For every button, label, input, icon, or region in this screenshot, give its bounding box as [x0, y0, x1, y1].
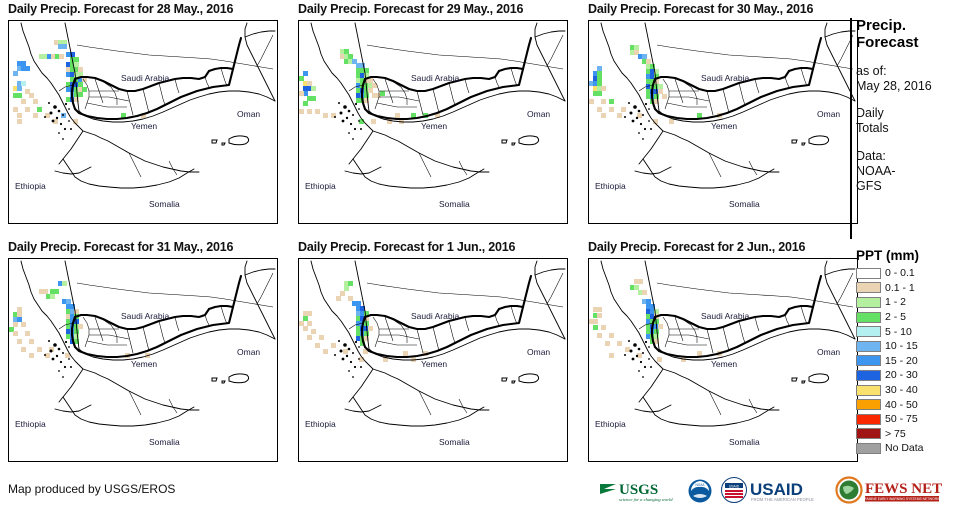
map-frame-5[interactable]: Saudi Arabia Oman Yemen Ethiopia Somalia	[298, 258, 568, 462]
country-label-somalia: Somalia	[149, 437, 180, 447]
legend-label: 1 - 2	[885, 296, 906, 308]
legend-label: 15 - 20	[885, 355, 918, 367]
country-label-yemen: Yemen	[711, 121, 737, 131]
legend-row-12: No Data	[856, 441, 967, 456]
sidebar-totals-line2: Totals	[856, 121, 967, 136]
legend-row-7: 20 - 30	[856, 368, 967, 383]
country-label-saudi-arabia: Saudi Arabia	[411, 73, 459, 83]
fews-net-logo: FEWS NET FAMINE EARLY WARNING SYSTEMS NE…	[835, 475, 945, 507]
panel-title-3: Daily Precip. Forecast for 30 May., 2016	[588, 2, 858, 19]
panel-title-6: Daily Precip. Forecast for 2 Jun., 2016	[588, 240, 858, 257]
country-label-yemen: Yemen	[131, 359, 157, 369]
country-label-ethiopia: Ethiopia	[15, 419, 46, 429]
legend-row-11: > 75	[856, 427, 967, 442]
country-label-somalia: Somalia	[439, 199, 470, 209]
country-label-saudi-arabia: Saudi Arabia	[411, 311, 459, 321]
sidebar-data-line2: GFS	[856, 179, 967, 194]
country-label-somalia: Somalia	[729, 437, 760, 447]
svg-text:USAID: USAID	[729, 485, 740, 489]
legend-label: 20 - 30	[885, 369, 918, 381]
country-label-ethiopia: Ethiopia	[305, 181, 336, 191]
legend-label: No Data	[885, 442, 924, 454]
legend-swatch	[856, 399, 881, 410]
legend-swatch	[856, 443, 881, 454]
country-label-saudi-arabia: Saudi Arabia	[121, 311, 169, 321]
legend-swatch	[856, 414, 881, 425]
country-label-ethiopia: Ethiopia	[305, 419, 336, 429]
legend-row-10: 50 - 75	[856, 412, 967, 427]
forecast-panel-2: Daily Precip. Forecast for 29 May., 2016	[298, 2, 568, 224]
noaa-logo: NOAA	[687, 475, 713, 507]
ppt-legend: PPT (mm) 0 - 0.1 0.1 - 1 1 - 2 2 - 5 5 -…	[856, 248, 967, 456]
legend-swatch	[856, 341, 881, 352]
legend-label: 0.1 - 1	[885, 282, 915, 294]
legend-label: 10 - 15	[885, 340, 918, 352]
sidebar-data-source: Data: NOAA- GFS	[856, 149, 967, 195]
country-label-oman: Oman	[817, 109, 840, 119]
sidebar-divider	[850, 18, 852, 239]
country-label-yemen: Yemen	[131, 121, 157, 131]
legend-swatch	[856, 385, 881, 396]
country-label-oman: Oman	[237, 347, 260, 357]
country-label-somalia: Somalia	[729, 199, 760, 209]
forecast-panel-1: Daily Precip. Forecast for 28 May., 2016	[8, 2, 278, 224]
sidebar-asof: as of: May 28, 2016	[856, 64, 967, 95]
country-label-yemen: Yemen	[421, 359, 447, 369]
legend-label: 5 - 10	[885, 326, 912, 338]
sidebar-info: Precip. Forecast as of: May 28, 2016 Dai…	[856, 18, 967, 194]
legend-label: 40 - 50	[885, 399, 918, 411]
country-label-somalia: Somalia	[439, 437, 470, 447]
panel-title-1: Daily Precip. Forecast for 28 May., 2016	[8, 2, 278, 19]
partner-logos: USGS science for a changing world NOAA U…	[598, 474, 945, 508]
country-label-yemen: Yemen	[711, 359, 737, 369]
country-label-oman: Oman	[527, 109, 550, 119]
legend-label: 2 - 5	[885, 311, 906, 323]
sidebar-asof-date: May 28, 2016	[856, 79, 967, 94]
panel-title-4: Daily Precip. Forecast for 31 May., 2016	[8, 240, 278, 257]
legend-swatch	[856, 326, 881, 337]
legend-swatch	[856, 312, 881, 323]
legend-row-4: 5 - 10	[856, 324, 967, 339]
svg-text:FEWS NET: FEWS NET	[865, 481, 942, 497]
svg-text:USGS: USGS	[619, 482, 658, 498]
panel-title-5: Daily Precip. Forecast for 1 Jun., 2016	[298, 240, 568, 257]
country-label-yemen: Yemen	[421, 121, 447, 131]
legend-swatch	[856, 297, 881, 308]
map-frame-3[interactable]: Saudi Arabia Oman Yemen Ethiopia Somalia	[588, 20, 858, 224]
usaid-logo: USAID USAID FROM THE AMERICAN PEOPLE	[720, 475, 828, 507]
country-label-somalia: Somalia	[149, 199, 180, 209]
legend-label: > 75	[885, 428, 906, 440]
legend-row-5: 10 - 15	[856, 339, 967, 354]
map-canvas: Saudi Arabia Oman Yemen Ethiopia Somalia	[299, 259, 567, 461]
panel-title-2: Daily Precip. Forecast for 29 May., 2016	[298, 2, 568, 19]
sidebar-data-line1: NOAA-	[856, 164, 967, 179]
country-label-oman: Oman	[237, 109, 260, 119]
sidebar-data-label: Data:	[856, 149, 967, 164]
usgs-logo: USGS science for a changing world	[598, 475, 680, 507]
map-frame-2[interactable]: Saudi Arabia Oman Yemen Ethiopia Somalia	[298, 20, 568, 224]
map-canvas: Saudi Arabia Oman Yemen Ethiopia Somalia	[9, 259, 277, 461]
country-label-ethiopia: Ethiopia	[595, 419, 626, 429]
sidebar-totals-line1: Daily	[856, 106, 967, 121]
map-canvas: Saudi Arabia Oman Yemen Ethiopia Somalia	[589, 259, 857, 461]
sidebar-asof-label: as of:	[856, 64, 967, 79]
forecast-panel-4: Daily Precip. Forecast for 31 May., 2016	[8, 240, 278, 462]
legend-label: 0 - 0.1	[885, 267, 915, 279]
legend-row-2: 1 - 2	[856, 295, 967, 310]
forecast-panel-3: Daily Precip. Forecast for 30 May., 2016	[588, 2, 858, 224]
legend-swatch	[856, 282, 881, 293]
legend-items: 0 - 0.1 0.1 - 1 1 - 2 2 - 5 5 - 10 10 - …	[856, 266, 967, 456]
map-canvas: Saudi Arabia Oman Yemen Ethiopia Somalia	[589, 21, 857, 223]
svg-text:FROM THE AMERICAN PEOPLE: FROM THE AMERICAN PEOPLE	[751, 497, 814, 502]
country-label-saudi-arabia: Saudi Arabia	[701, 311, 749, 321]
svg-text:science for a changing world: science for a changing world	[619, 497, 673, 502]
precip-forecast-map-page: Daily Precip. Forecast for 28 May., 2016	[0, 0, 967, 511]
map-frame-1[interactable]: Saudi Arabia Oman Yemen Ethiopia Somalia	[8, 20, 278, 224]
forecast-panel-6: Daily Precip. Forecast for 2 Jun., 2016	[588, 240, 858, 462]
legend-row-3: 2 - 5	[856, 310, 967, 325]
country-label-saudi-arabia: Saudi Arabia	[701, 73, 749, 83]
legend-label: 50 - 75	[885, 413, 918, 425]
forecast-panel-5: Daily Precip. Forecast for 1 Jun., 2016	[298, 240, 568, 462]
legend-swatch	[856, 268, 881, 279]
legend-row-8: 30 - 40	[856, 383, 967, 398]
legend-swatch	[856, 428, 881, 439]
country-label-ethiopia: Ethiopia	[15, 181, 46, 191]
map-frame-6[interactable]: Saudi Arabia Oman Yemen Ethiopia Somalia	[588, 258, 858, 462]
sidebar-title-line1: Precip.	[856, 18, 967, 35]
legend-row-9: 40 - 50	[856, 397, 967, 412]
country-label-oman: Oman	[817, 347, 840, 357]
country-label-saudi-arabia: Saudi Arabia	[121, 73, 169, 83]
legend-row-6: 15 - 20	[856, 354, 967, 369]
map-frame-4[interactable]: Saudi Arabia Oman Yemen Ethiopia Somalia	[8, 258, 278, 462]
legend-swatch	[856, 370, 881, 381]
svg-text:FAMINE EARLY WARNING SYSTEMS N: FAMINE EARLY WARNING SYSTEMS NETWORK	[865, 497, 941, 501]
legend-row-1: 0.1 - 1	[856, 281, 967, 296]
sidebar-title-line2: Forecast	[856, 35, 967, 52]
map-credit: Map produced by USGS/EROS	[8, 482, 175, 496]
svg-text:NOAA: NOAA	[695, 483, 705, 487]
legend-label: 30 - 40	[885, 384, 918, 396]
country-label-ethiopia: Ethiopia	[595, 181, 626, 191]
sidebar-title: Precip. Forecast	[856, 18, 967, 52]
legend-row-0: 0 - 0.1	[856, 266, 967, 281]
country-label-oman: Oman	[527, 347, 550, 357]
legend-title: PPT (mm)	[856, 248, 967, 263]
legend-swatch	[856, 355, 881, 366]
map-canvas: Saudi Arabia Oman Yemen Ethiopia Somalia	[9, 21, 277, 223]
sidebar-totals: Daily Totals	[856, 106, 967, 137]
map-canvas: Saudi Arabia Oman Yemen Ethiopia Somalia	[299, 21, 567, 223]
